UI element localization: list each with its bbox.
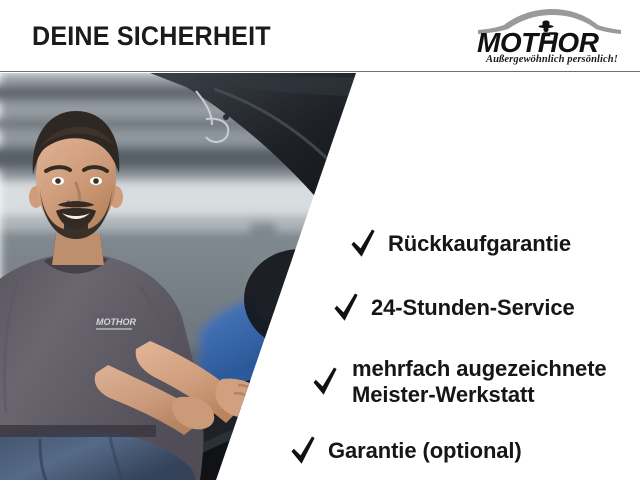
- page-title: DEINE SICHERHEIT: [32, 21, 271, 52]
- check-mark-icon: [350, 227, 376, 261]
- list-item-label: 24-Stunden-Service: [371, 295, 575, 321]
- promo-slide: DEINE SICHERHEIT MOTHOR Außerg: [0, 0, 640, 480]
- list-item-label: Garantie (optional): [328, 438, 522, 464]
- list-item: Rückkaufgarantie: [350, 227, 571, 261]
- header-bar: DEINE SICHERHEIT MOTHOR Außerg: [0, 0, 640, 72]
- dipstick: [240, 414, 251, 479]
- check-mark-icon: [290, 434, 316, 468]
- logo-tagline: Außergewöhnlich persönlich!: [485, 54, 618, 65]
- list-item: Garantie (optional): [290, 434, 522, 468]
- check-mark-icon: [312, 365, 338, 399]
- mothor-logo: MOTHOR Außergewöhnlich persönlich!: [474, 8, 624, 66]
- svg-text:MOTHOR: MOTHOR: [96, 317, 136, 327]
- benefits-list: Rückkaufgarantie 24-Stunden-Service mehr…: [300, 73, 640, 480]
- sweatshirt-logo: MOTHOR: [92, 313, 138, 333]
- list-item: mehrfach augezeichnete Meister-Werkstatt: [312, 356, 607, 407]
- list-item: 24-Stunden-Service: [333, 291, 575, 325]
- list-item-label: mehrfach augezeichnete Meister-Werkstatt: [352, 356, 607, 407]
- check-mark-icon: [333, 291, 359, 325]
- list-item-label: Rückkaufgarantie: [388, 231, 571, 257]
